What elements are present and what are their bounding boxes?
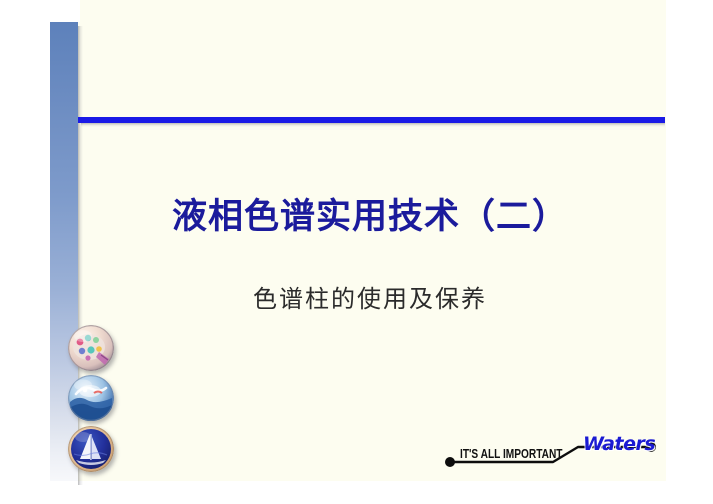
waters-logo: IT'S ALL IMPORTANT Waters xyxy=(443,428,658,472)
waters-wordmark: Waters xyxy=(583,433,655,455)
page-title: 液相色谱实用技术（二） xyxy=(120,188,620,239)
waters-tagline: IT'S ALL IMPORTANT xyxy=(460,446,562,461)
slide-root: 液相色谱实用技术（二） 色谱柱的使用及保养 xyxy=(0,0,713,504)
divider-rule xyxy=(78,117,665,123)
winter-scene-sphere-icon xyxy=(68,375,114,421)
left-margin xyxy=(0,0,50,481)
top-margin xyxy=(0,0,80,22)
sailboat-sphere-icon xyxy=(68,426,114,472)
divider-rule-shadow xyxy=(81,123,665,127)
palette-sphere-icon xyxy=(68,325,114,371)
page-subtitle: 色谱柱的使用及保养 xyxy=(120,279,620,314)
